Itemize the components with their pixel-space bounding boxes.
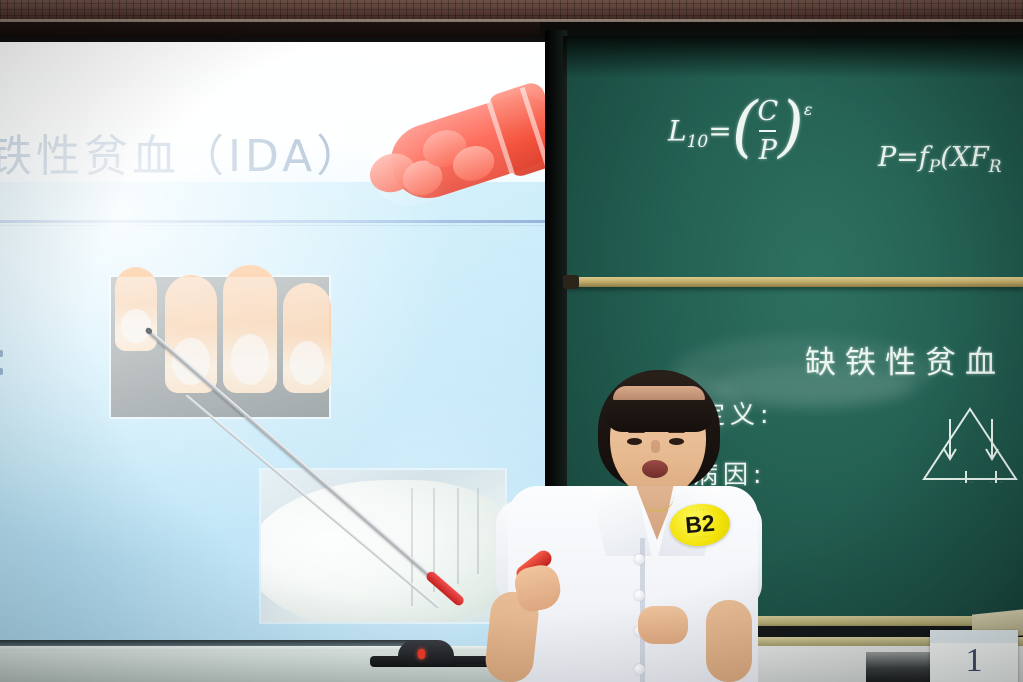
chalkboard-divider-rail (563, 277, 1023, 287)
eq2-tail-subscript: R (989, 157, 1002, 177)
chalkboard-top-shadow (563, 36, 1023, 78)
ceiling-wall-band (0, 0, 1023, 22)
eq1-denominator: P (757, 137, 778, 164)
triangle-svg (920, 405, 1020, 483)
headband (613, 386, 705, 400)
nose (651, 440, 660, 453)
eq1-numerator: C (757, 98, 778, 125)
triangle-diagram-icon (920, 405, 1020, 483)
coat-button (634, 590, 645, 601)
eq1-exponent: ε (804, 100, 813, 119)
eq2-tail: (XF (940, 142, 989, 173)
chalk-equation-1: L10=( C P )ε (668, 100, 812, 166)
rail-end-knob (563, 275, 579, 289)
coat-button (634, 554, 645, 565)
coat-button (634, 664, 645, 675)
chalk-equation-2: P=fP(XFR (878, 142, 1002, 173)
projection-screen[interactable]: 铁性贫血（IDA） (0, 42, 547, 654)
eq1-open-paren: ( (732, 88, 758, 165)
eq1-lhs-subscript: 10 (687, 132, 709, 152)
slide-bullet-list (0, 350, 3, 386)
mouse-led-icon (418, 649, 425, 659)
arm-right (706, 600, 752, 682)
nail-closeup-clinical-photo (261, 470, 505, 622)
number-placard: 1 (930, 630, 1018, 682)
chalk-heading: 缺铁性贫血 (805, 337, 1005, 382)
list-item (0, 368, 3, 375)
list-item (0, 350, 3, 357)
mouth (642, 460, 668, 478)
hand-gesturing (638, 606, 688, 644)
eq1-lhs: L (668, 115, 687, 148)
hair-front (606, 372, 712, 432)
placard-number: 1 (930, 642, 1018, 680)
classroom-photo: 铁性贫血（IDA） (0, 0, 1023, 682)
eq2-head: P=f (878, 142, 929, 173)
presenter: · · · · · · B2 · · · · · (470, 368, 770, 682)
eq2-subscript: P (929, 157, 940, 177)
eq1-close-paren: ) (778, 88, 804, 165)
eq1-fraction-bar (759, 130, 776, 132)
eq1-equals: = (708, 115, 731, 148)
computer-mouse[interactable] (398, 640, 454, 666)
